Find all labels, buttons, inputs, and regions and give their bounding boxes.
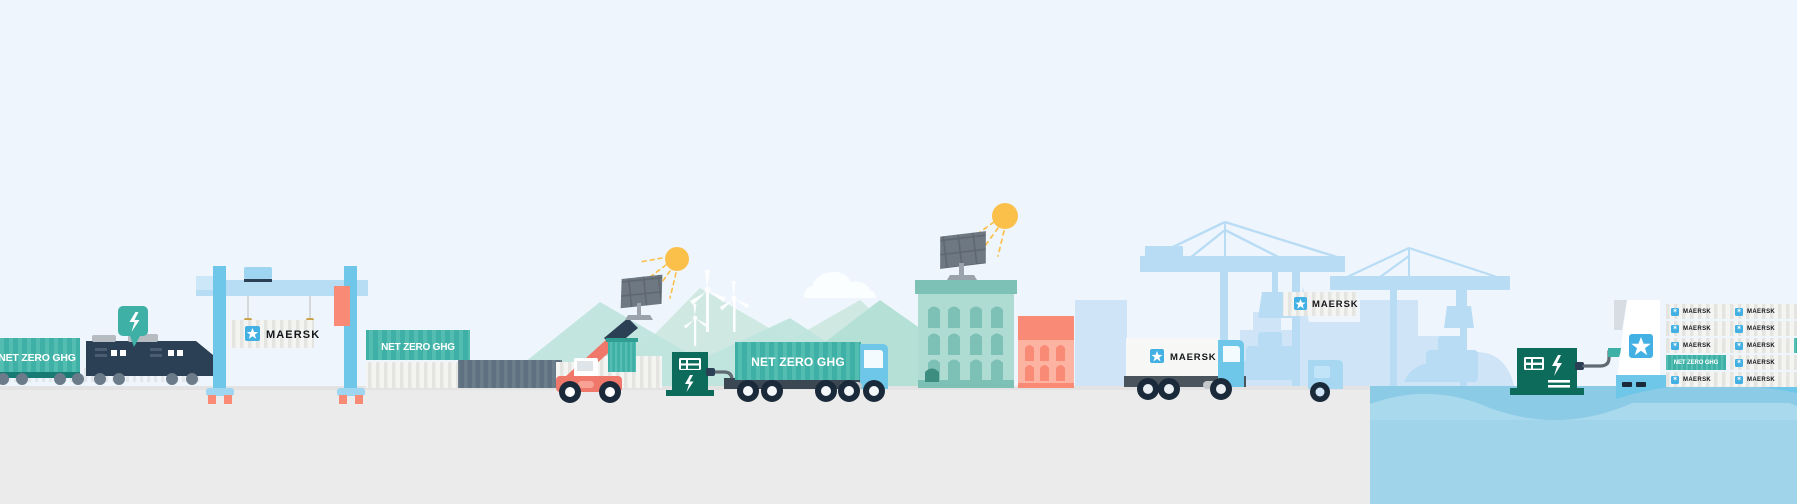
ship-container-netzero: NET ZERO GHG [1666,355,1726,370]
illustration-scene: NET ZERO GHG [0,0,1797,504]
maersk-logo-icon: ✶ [1671,308,1679,316]
ship-container-maersk: ✶MAERSK [1730,355,1795,370]
ship-container-label: MAERSK [1747,326,1775,332]
maersk-logo-icon: ✶ [1735,359,1743,367]
ship-container-maersk: ✶MAERSK [1666,304,1731,319]
ship-container-maersk: ✶MAERSK [1666,338,1731,353]
gantry-container-label: MAERSK [266,329,320,341]
maersk-logo-icon: ✶ [1671,376,1679,384]
ship-container-label: MAERSK [1747,343,1775,349]
rail-container-label: NET ZERO GHG [0,352,76,364]
gantry-leg-left [213,266,226,390]
crane-container-label: MAERSK [1312,299,1359,310]
ship-container-label: MAERSK [1683,309,1711,315]
ship-container-maersk: ✶MAERSK [1730,338,1795,353]
maersk-logo-icon: ✶ [1735,325,1743,333]
building-roof [915,280,1017,294]
ship-container-maersk: ✶MAERSK [1730,372,1795,387]
sun-icon-left [665,247,689,271]
gantry-container: MAERSK [228,320,320,348]
ship-container-maersk: ✶MAERSK [1730,304,1795,319]
ship-container-maersk: ✶MAERSK [1666,321,1731,336]
sun-icon-right [992,203,1018,229]
crane-hanging-container: MAERSK [1283,292,1359,316]
gantry-counterweight [334,286,350,326]
yard-container-label: NET ZERO GHG [381,342,455,353]
yard-container-slate [458,360,562,388]
ship-container-label: NET ZERO GHG [1674,360,1718,366]
ship-container-label: MAERSK [1747,360,1775,366]
locomotive-body [86,341,213,376]
ship-container-label: MAERSK [1747,377,1775,383]
gantry-trolley [244,267,272,279]
ship-container-label: MAERSK [1683,326,1711,332]
maersk-truck-label: MAERSK [1170,352,1217,363]
ship-container-grid: ✶MAERSK✶MAERSK✶MAERSK✶MAERSK✶MAERSK✶MAER… [1666,304,1797,404]
building-door [925,369,939,383]
ship-container-label: MAERSK [1683,343,1711,349]
maersk-logo-icon: ✶ [1735,342,1743,350]
maersk-logo-icon: ✶ [1671,325,1679,333]
ship-container-label: MAERSK [1683,377,1711,383]
gantry-leg-right [344,266,357,390]
ship-container-maersk: ✶MAERSK [1730,321,1795,336]
truck-cab-window [864,350,883,368]
stacker-lifted-container [608,340,636,372]
ship-container-label: MAERSK [1747,309,1775,315]
yard-container-white-1 [366,362,470,388]
maersk-logo-icon: ✶ [1735,376,1743,384]
maersk-logo-icon: ✶ [1671,342,1679,350]
truck-container-label: NET ZERO GHG [751,355,845,369]
coral-building-roof [1018,316,1074,340]
infographic-page: 2022 highlights Container volume transpo… [0,0,1797,504]
ship-container-maersk: ✶MAERSK [1666,372,1731,387]
maersk-logo-icon: ✶ [1735,308,1743,316]
